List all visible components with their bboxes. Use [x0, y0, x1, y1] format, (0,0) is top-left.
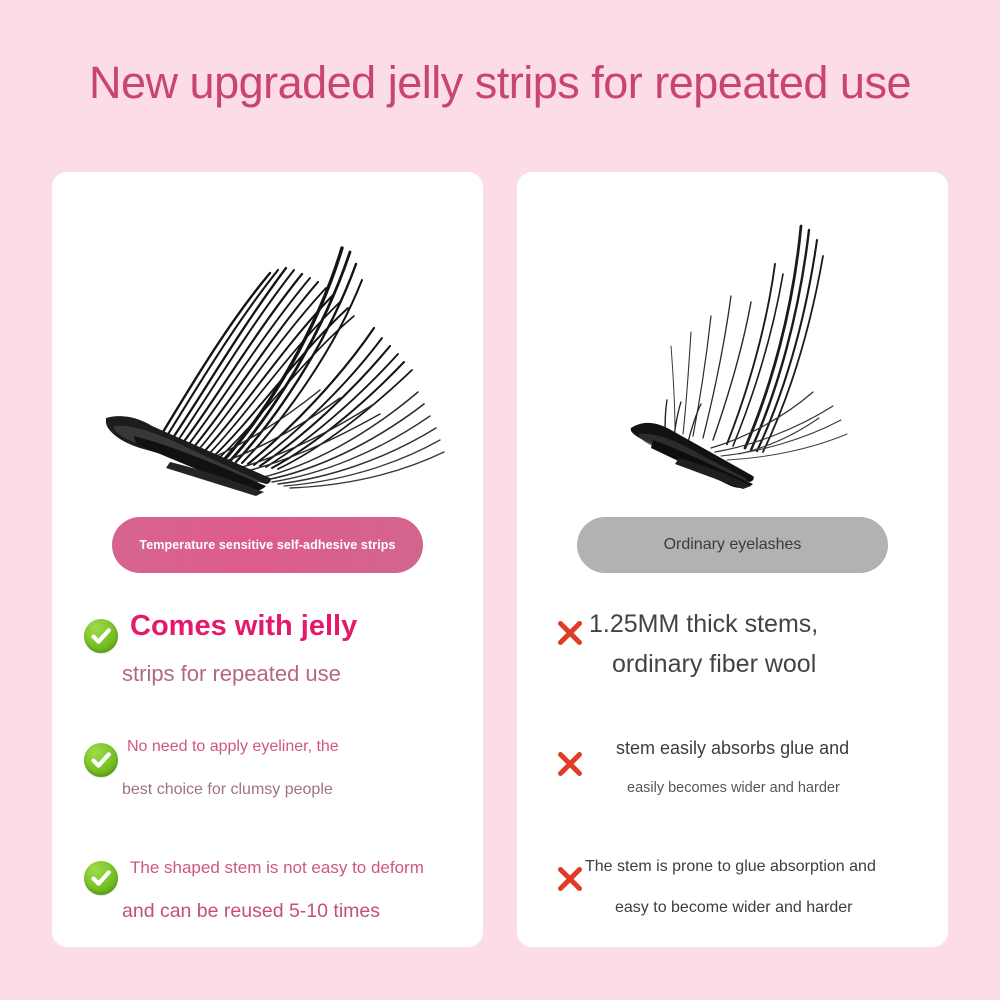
- badge-row-left: Temperature sensitive self-adhesive stri…: [52, 517, 483, 573]
- product-card-left[interactable]: Temperature sensitive self-adhesive stri…: [52, 172, 483, 947]
- feature-line-secondary: easy to become wider and harder: [615, 899, 852, 917]
- feature-line-secondary: and can be reused 5-10 times: [122, 900, 380, 923]
- feature-line-secondary: ordinary fiber wool: [612, 650, 816, 679]
- feature-item: The stem is prone to glue absorption and…: [517, 850, 948, 947]
- feature-item: 1.25MM thick stems, ordinary fiber wool: [517, 610, 948, 720]
- feature-item: No need to apply eyeliner, the best choi…: [52, 729, 483, 839]
- feature-item: Comes with jelly strips for repeated use: [52, 610, 483, 720]
- feature-line-secondary: best choice for clumsy people: [122, 781, 333, 799]
- feature-line-primary: The shaped stem is not easy to deform: [130, 858, 424, 878]
- check-icon: [84, 861, 118, 895]
- badge-temperature-sensitive[interactable]: Temperature sensitive self-adhesive stri…: [112, 517, 423, 573]
- feature-list-right: 1.25MM thick stems, ordinary fiber wool …: [517, 610, 948, 947]
- eyelash-sparse-icon: [595, 220, 885, 490]
- badge-ordinary-eyelashes[interactable]: Ordinary eyelashes: [577, 517, 888, 573]
- feature-line-primary: 1.25MM thick stems,: [589, 610, 818, 639]
- product-image-left: [52, 172, 483, 502]
- lash-band: [106, 416, 271, 496]
- feature-item: stem easily absorbs glue and easily beco…: [517, 729, 948, 839]
- eyelash-dense-icon: [74, 178, 464, 498]
- cross-icon: [555, 864, 585, 894]
- feature-line-secondary: strips for repeated use: [122, 661, 341, 687]
- feature-line-primary: No need to apply eyeliner, the: [127, 738, 339, 756]
- comparison-cards: Temperature sensitive self-adhesive stri…: [52, 172, 948, 947]
- cross-icon: [555, 749, 585, 779]
- feature-line-secondary: easily becomes wider and harder: [627, 780, 840, 796]
- feature-line-primary: Comes with jelly: [130, 610, 357, 643]
- feature-item: The shaped stem is not easy to deform an…: [52, 850, 483, 947]
- page-title: New upgraded jelly strips for repeated u…: [0, 58, 1000, 108]
- badge-row-right: Ordinary eyelashes: [517, 517, 948, 573]
- feature-list-left: Comes with jelly strips for repeated use…: [52, 610, 483, 947]
- cross-icon: [555, 618, 585, 648]
- product-card-right[interactable]: Ordinary eyelashes 1.25MM thick stems, o…: [517, 172, 948, 947]
- feature-line-primary: stem easily absorbs glue and: [616, 738, 849, 759]
- check-icon: [84, 743, 118, 777]
- feature-line-primary: The stem is prone to glue absorption and: [585, 858, 876, 876]
- lash-band: [631, 423, 754, 489]
- check-icon: [84, 619, 118, 653]
- product-image-right: [517, 172, 948, 502]
